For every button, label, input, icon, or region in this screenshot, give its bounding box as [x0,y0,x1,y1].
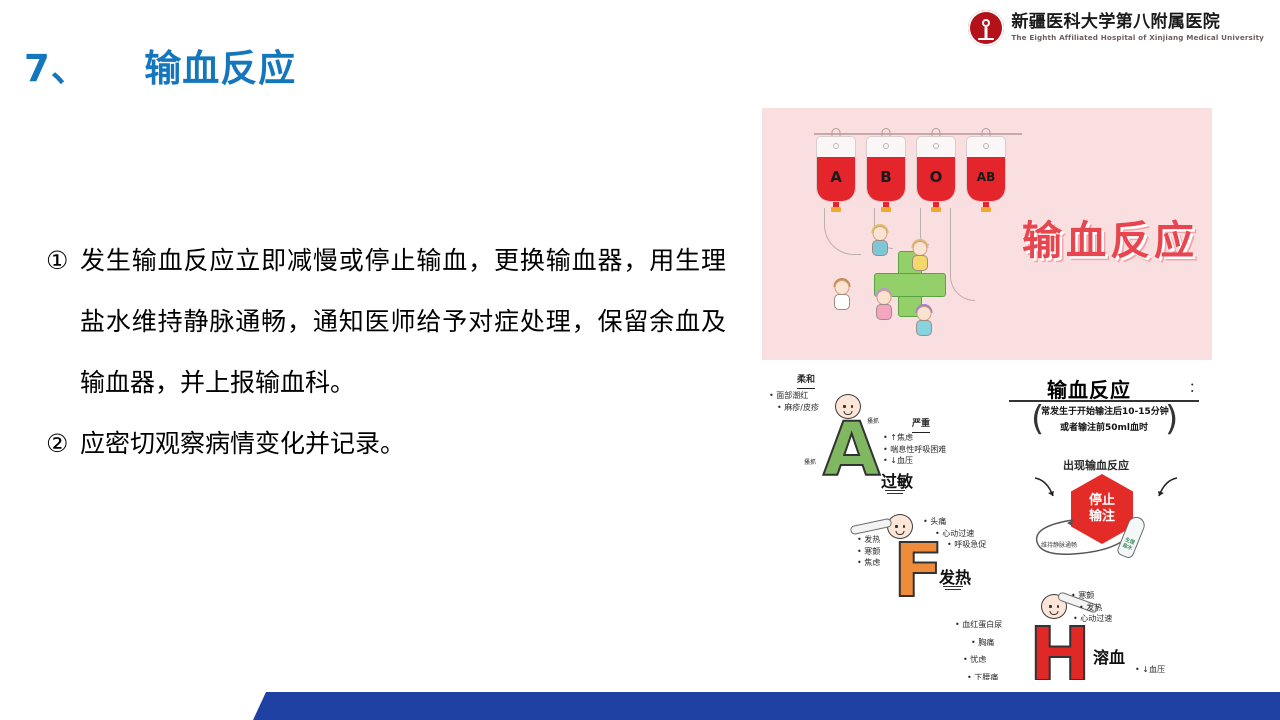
cartoon-child [832,280,852,312]
hemolysis-item: 寒颤 [1071,590,1112,602]
arrow-left-icon [1033,474,1063,504]
fever-item: 发热 [857,534,880,546]
hemolysis-item: 血红蛋白尿 [955,616,1002,634]
iv-tube [824,208,861,255]
fever-item: 焦虑 [857,557,880,569]
cartoon-child [914,306,934,338]
blood-bag-label: A [816,168,856,186]
blood-type-poster-image: A B O AB [762,108,1212,360]
list-item: ② 应密切观察病情变化并记录。 [46,413,726,474]
allergy-patient-head-icon [835,394,861,419]
hemolysis-letter-h: H [1029,618,1091,680]
fever-right-items: 头痛 心动过速 呼吸急促 [923,516,986,551]
fever-name: 发热 [939,564,971,588]
allergy-mild-item: 麻疹/皮疹 [777,402,819,414]
iv-tube [950,208,975,301]
cartoon-child [874,290,894,322]
allergy-mild-items: 面部潮红 麻疹/皮疹 [769,390,819,413]
fever-item: 呼吸急促 [947,539,986,551]
panel-subtitle-line2: 或者输注前50ml血时 [1041,422,1167,436]
panel-title: 输血反应 [1047,374,1131,403]
blood-bag-o: O [916,136,956,202]
thermometer-icon [850,518,893,536]
panel-title-colon: ： [1189,380,1202,399]
blood-bag-label: AB [966,170,1006,184]
hemolysis-item: 发热 [1079,602,1112,614]
panel-subtitle-line1: 常发生于开始输注后10-15分钟 [1041,406,1167,420]
hospital-name-en: The Eighth Affiliated Hospital of Xinjia… [1011,34,1264,41]
fever-item: 头痛 [923,516,986,528]
allergy-severe-items: ↑焦虑 喘息性呼吸困难 ↓血压 [883,432,946,467]
transfusion-reaction-diagram-image: 柔和 面部潮红 麻疹/皮疹 A 搔抓 搔抓 严重 ↑焦虑 喘息性呼吸困难 ↓血压… [757,366,1205,680]
hemolysis-item: 下腰痛 [967,669,1002,680]
iv-pole-rail [814,133,1022,135]
fever-left-items: 发热 寒颤 焦虑 [857,534,880,569]
hospital-name-cn: 新疆医科大学第八附属医院 [1011,14,1264,31]
list-item-marker: ② [46,413,80,474]
blood-bag-b: B [866,136,906,202]
list-item-marker: ① [46,230,80,291]
list-item-text: 应密切观察病情变化并记录。 [80,413,726,474]
blood-bag-ab: AB [966,136,1006,202]
allergy-severe-item: ↑焦虑 [883,432,946,444]
hospital-logo: 新疆医科大学第八附属医院 The Eighth Affiliated Hospi… [968,10,1264,46]
allergy-mild-heading: 柔和 [797,374,815,389]
poster-headline: 输血反应 [1022,208,1198,266]
allergy-severe-item: ↓血压 [883,455,946,467]
cartoon-child [870,226,890,258]
hemolysis-item: 忧虑 [963,651,1002,669]
hemolysis-right-items: 寒颤 发热 心动过速 [1071,590,1112,625]
hemolysis-left-items: 血红蛋白尿 胸痛 忧虑 下腰痛 [955,616,1002,680]
action-heading: 出现输血反应 [1063,458,1129,474]
hemolysis-name: 溶血 [1093,644,1125,668]
blood-bag-label: B [866,168,906,186]
page-title: 7、 输血反应 [24,38,296,92]
list-item: ① 发生输血反应立即减慢或停止输血，更换输血器，用生理盐水维持静脉通畅，通知医师… [46,230,726,413]
blood-bag-label: O [916,168,956,186]
fever-patient-head-icon [887,514,913,539]
hospital-seal-icon [968,10,1004,46]
hemolysis-item: ↓血压 [1135,664,1165,676]
hospital-logo-text: 新疆医科大学第八附属医院 The Eighth Affiliated Hospi… [1011,14,1264,41]
allergy-scratch-label: 搔抓 [867,418,879,427]
hemolysis-item: 胸痛 [971,634,1002,652]
fever-item: 寒颤 [857,546,880,558]
list-item-text: 发生输血反应立即减慢或停止输血，更换输血器，用生理盐水维持静脉通畅，通知医师给予… [80,230,726,413]
hemolysis-right-items-cont: ↓血压 [1135,664,1165,676]
allergy-severe-heading: 严重 [912,418,930,433]
body-text-block: ① 发生输血反应立即减慢或停止输血，更换输血器，用生理盐水维持静脉通畅，通知医师… [46,230,726,474]
fever-item: 心动过速 [935,528,986,540]
hemolysis-item: 心动过速 [1073,613,1112,625]
stop-line-1: 停止 [1089,493,1115,509]
allergy-mild-item: 面部潮红 [769,390,819,402]
bottom-banner [0,692,1280,720]
allergy-name: 过敏 [881,468,913,492]
allergy-scratch-label: 搔抓 [804,459,816,468]
arrow-right-icon [1149,474,1179,504]
allergy-severe-item: 喘息性呼吸困难 [883,444,946,456]
maintain-line-label: 维持静脉通畅 [1041,542,1077,551]
cartoon-child [910,241,930,273]
blood-bag-a: A [816,136,856,202]
